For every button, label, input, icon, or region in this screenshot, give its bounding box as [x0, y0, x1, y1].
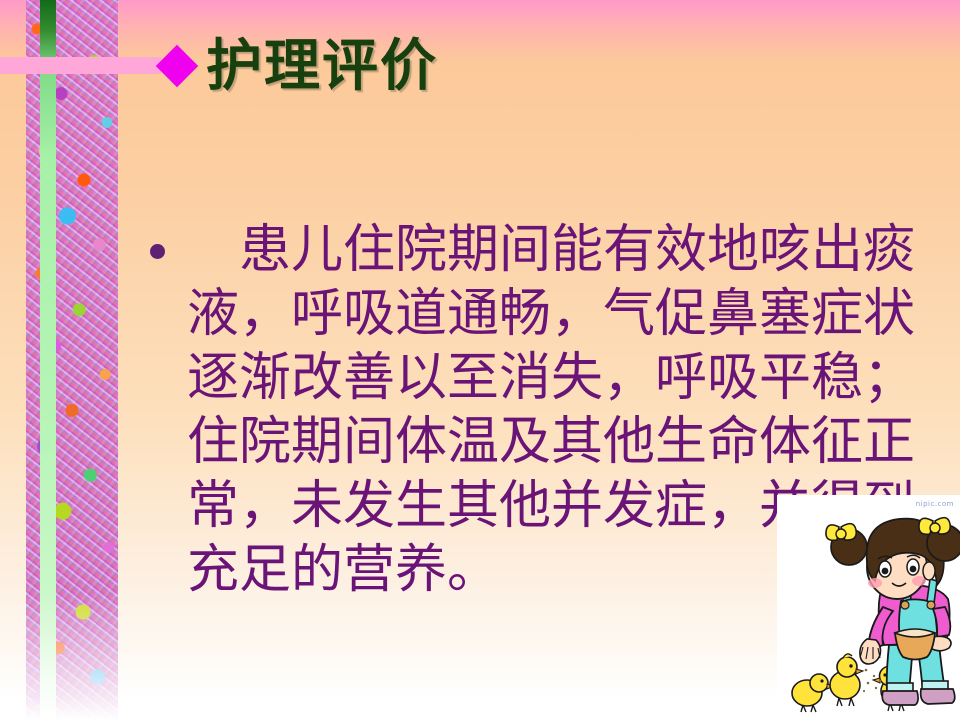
title-text: 护理评价	[206, 38, 438, 94]
diamond-bullet-icon	[156, 45, 198, 87]
left-decorative-strip	[26, 0, 118, 720]
clipart-girl-feeding-chicks: nipic.com	[777, 495, 960, 720]
disc-bullet-icon	[150, 244, 165, 259]
pink-band	[0, 57, 161, 74]
slide-title: 护理评价	[162, 38, 438, 94]
clipart-watermark: nipic.com	[916, 500, 954, 508]
slide-canvas: 护理评价 患儿住院期间能有效地咳出痰液，呼吸道通畅，气促鼻塞症状逐渐改善以至消失…	[0, 0, 960, 720]
clipart-illustration	[777, 495, 960, 720]
strip-fade-overlay	[26, 590, 118, 720]
